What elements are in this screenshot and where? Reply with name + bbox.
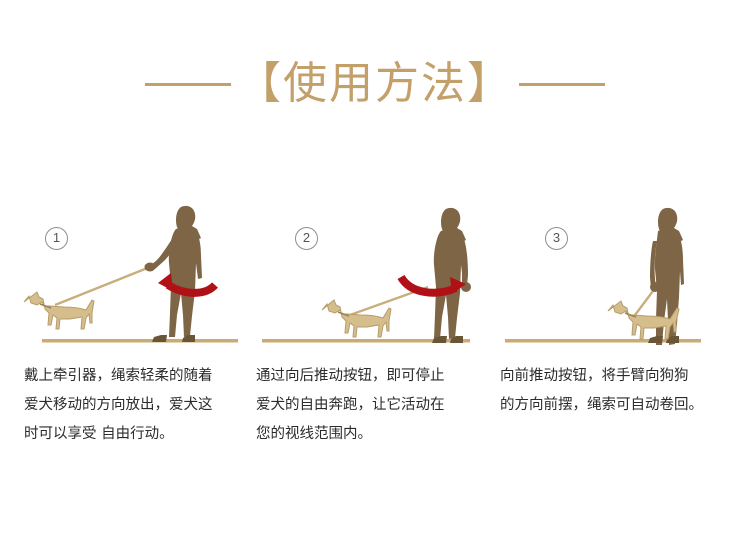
step-panel-1: 1 — [0, 195, 250, 360]
illustration-panels: 1 — [0, 195, 750, 360]
ground-line — [42, 339, 238, 343]
step-badge-2: 2 — [295, 227, 318, 250]
caption-line: 爱犬移动的方向放出，爱犬这 — [24, 391, 232, 420]
caption-step-2: 通过向后推动按钮，即可停止 爱犬的自由奔跑，让它活动在 您的视线范围内。 — [250, 362, 500, 449]
illustration-step-2 — [250, 195, 500, 360]
illustration-step-1 — [0, 195, 250, 360]
caption-step-1: 戴上牵引器，绳索轻柔的随着 爱犬移动的方向放出，爱犬这 时可以享受 自由行动。 — [0, 362, 250, 449]
usage-instructions-page: { "header": { "bracket_open": "【", "brac… — [0, 0, 750, 540]
title-rule-left — [145, 83, 231, 86]
caption-line: 通过向后推动按钮，即可停止 — [256, 362, 482, 391]
illustration-step-3 — [500, 195, 750, 360]
caption-line: 时可以享受 自由行动。 — [24, 420, 232, 449]
title-rule-right — [519, 83, 605, 86]
caption-step-3: 向前推动按钮，将手臂向狗狗 的方向前摆，绳索可自动卷回。 — [500, 362, 750, 449]
step-badge-3: 3 — [545, 227, 568, 250]
page-title: 【使用方法】 — [237, 62, 513, 106]
step-panel-2: 2 — [250, 195, 500, 360]
woman-silhouette — [432, 208, 471, 343]
caption-line: 爱犬的自由奔跑，让它活动在 — [256, 391, 482, 420]
caption-row: 戴上牵引器，绳索轻柔的随着 爱犬移动的方向放出，爱犬这 时可以享受 自由行动。 … — [0, 362, 750, 449]
dog-silhouette — [24, 292, 94, 329]
caption-line: 戴上牵引器，绳索轻柔的随着 — [24, 362, 232, 391]
caption-line: 的方向前摆，绳索可自动卷回。 — [500, 391, 740, 420]
step-badge-1: 1 — [45, 227, 68, 250]
caption-line: 向前推动按钮，将手臂向狗狗 — [500, 362, 740, 391]
step-panel-3: 3 — [500, 195, 750, 360]
dog-silhouette — [322, 300, 391, 337]
leash-line — [55, 267, 150, 305]
page-title-block: 【使用方法】 — [0, 56, 750, 112]
woman-silhouette — [145, 206, 203, 342]
caption-line: 您的视线范围内。 — [256, 420, 482, 449]
